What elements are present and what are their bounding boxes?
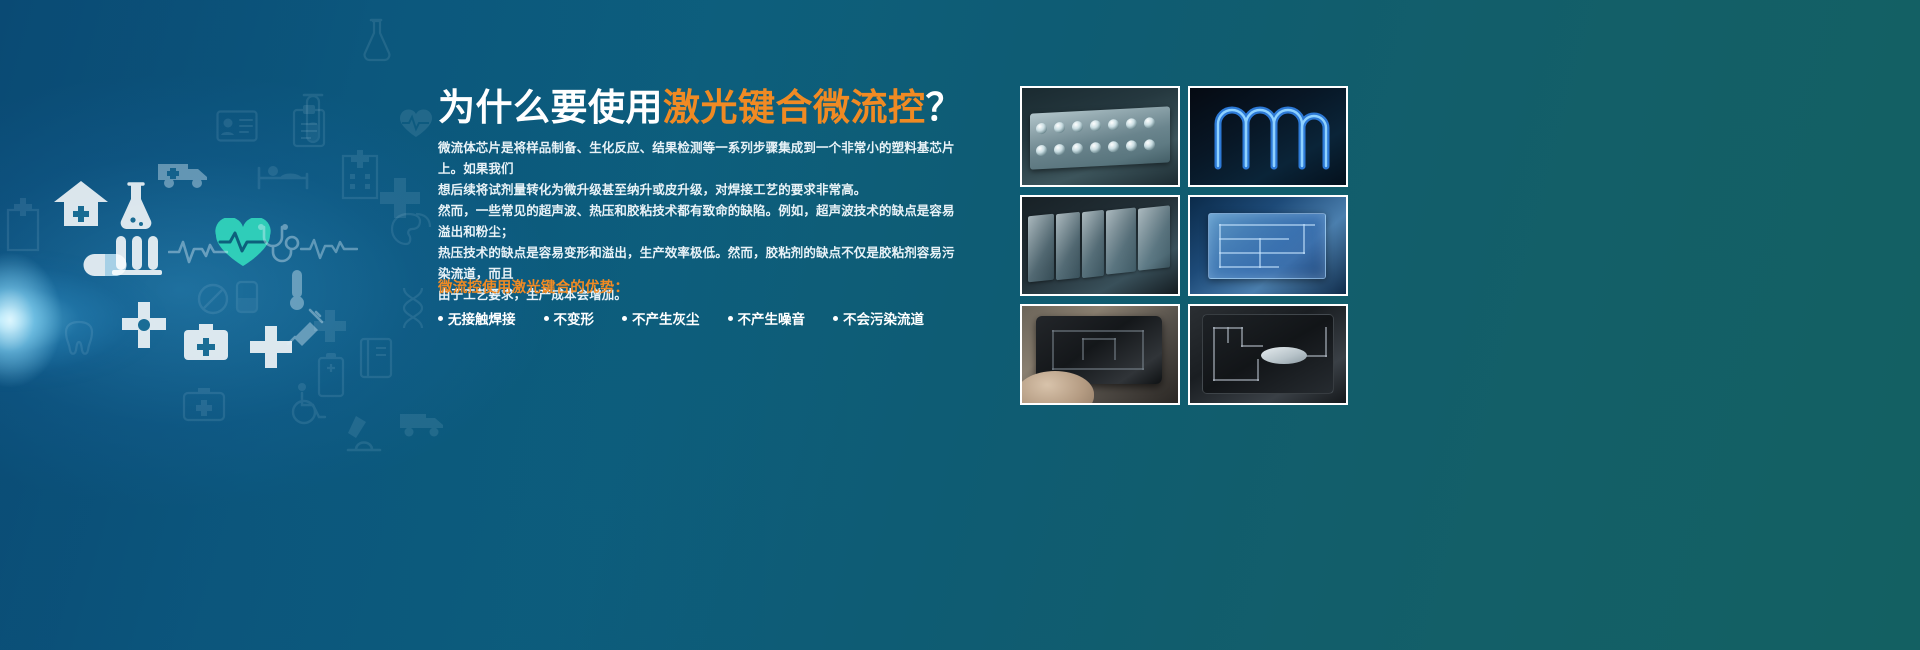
syringe-icon [286, 306, 326, 346]
ambulance-icon [156, 156, 210, 190]
flask-icon [358, 18, 394, 64]
list-item: 不产生灰尘 [622, 308, 700, 328]
stethoscope-icon [256, 224, 302, 266]
photo-black-chip-held-in-hand[interactable] [1020, 304, 1180, 405]
light-beam-core [0, 225, 140, 415]
list-item: 不会污染流道 [833, 308, 924, 328]
promo-banner: 为什么要使用激光键合微流控？ 微流体芯片是将样品制备、生化反应、结果检测等一系列… [0, 0, 1920, 650]
list-item: 不变形 [544, 308, 595, 328]
bullet-dot-icon [544, 316, 549, 321]
capsule-icon [82, 250, 128, 280]
banner-text-column: 为什么要使用激光键合微流控？ 微流体芯片是将样品制备、生化反应、结果检测等一系列… [438, 0, 998, 650]
photo-blue-serpentine-channel-chip[interactable] [1188, 86, 1348, 187]
pill-icon [196, 282, 230, 316]
kidney-icon [388, 210, 432, 248]
clipboard-icon [292, 104, 326, 148]
paragraph-line: 然而，一些常见的超声波、热压和胶粘技术都有致命的缺陷。例如，超声波技术的缺点是容… [438, 201, 960, 243]
photo-clear-microfluidic-chip-with-wells[interactable] [1020, 86, 1180, 187]
chip-body [1030, 106, 1170, 169]
battery-icon [316, 352, 346, 398]
thermometer-icon [284, 268, 310, 312]
medical-cross-icon [248, 324, 294, 370]
bullet-dot-icon [622, 316, 627, 321]
wheelchair-icon [286, 382, 328, 426]
title-question-mark: ？ [926, 87, 964, 128]
id-card-icon [216, 110, 258, 142]
heart-pulse-icon [398, 108, 434, 140]
paragraph-line: 想后续将试剂量转化为微升级甚至纳升或皮升级，对焊接工艺的要求非常高。 [438, 180, 960, 201]
list-item-label: 不变形 [554, 308, 595, 328]
photo-image [1190, 88, 1346, 185]
photo-image [1022, 88, 1178, 185]
medical-cross-icon [118, 300, 170, 352]
microscope-icon [342, 412, 386, 456]
list-item: 无接触焊接 [438, 308, 516, 328]
ecg-line-icon [168, 238, 228, 264]
hospital-building-icon [340, 148, 380, 200]
photo-blue-transparent-laser-bonded-chip[interactable] [1188, 195, 1348, 296]
photo-image [1190, 197, 1346, 294]
chip-body [1202, 314, 1334, 394]
paragraph-line: 微流体芯片是将样品制备、生化反应、结果检测等一系列步骤集成到一个非常小的塑料基芯… [438, 138, 960, 180]
title-white-part: 为什么要使用 [438, 87, 663, 128]
list-item-label: 不产生噪音 [738, 308, 806, 328]
light-beam-glow [0, 150, 390, 490]
chip-body [1208, 213, 1326, 279]
bullet-dot-icon [833, 316, 838, 321]
list-item-label: 不会污染流道 [843, 308, 924, 328]
bullet-dot-icon [728, 316, 733, 321]
ecg-line-icon [300, 236, 358, 260]
first-aid-kit-icon [182, 386, 226, 422]
advantages-list: 无接触焊接 不变形 不产生灰尘 不产生噪音 不会污染流道 [438, 308, 968, 328]
home-cross-icon [52, 178, 110, 228]
medical-cross-icon [378, 176, 422, 220]
dna-icon [398, 286, 428, 330]
test-tube-icon [300, 92, 326, 148]
hospital-bed-icon [256, 158, 310, 194]
list-item: 不产生噪音 [728, 308, 806, 328]
medical-cross-icon [312, 308, 348, 344]
blood-bag-icon [232, 278, 262, 318]
page-title: 为什么要使用激光键合微流控？ [438, 88, 963, 129]
photo-dark-chip-with-oval-chamber[interactable] [1188, 304, 1348, 405]
photo-stacked-clear-microfluidic-slides[interactable] [1020, 195, 1180, 296]
photo-image [1022, 306, 1178, 403]
test-tube-rack-icon [110, 232, 164, 278]
advantages-subheading: 微流控使用激光键合的优势： [438, 276, 629, 297]
flask-icon [116, 182, 156, 234]
photo-image [1190, 306, 1346, 403]
tooth-icon [62, 318, 96, 358]
book-icon [358, 336, 394, 380]
list-item-label: 无接触焊接 [448, 308, 516, 328]
hospital-building-icon [4, 196, 42, 252]
list-item-label: 不产生灰尘 [632, 308, 700, 328]
bullet-dot-icon [438, 316, 443, 321]
product-photo-grid [1020, 86, 1348, 416]
chamber [1261, 347, 1307, 364]
title-orange-part: 激光键合微流控 [663, 87, 926, 128]
heart-ecg-icon [212, 218, 274, 270]
photo-image [1022, 197, 1178, 294]
first-aid-kit-icon [182, 322, 230, 362]
